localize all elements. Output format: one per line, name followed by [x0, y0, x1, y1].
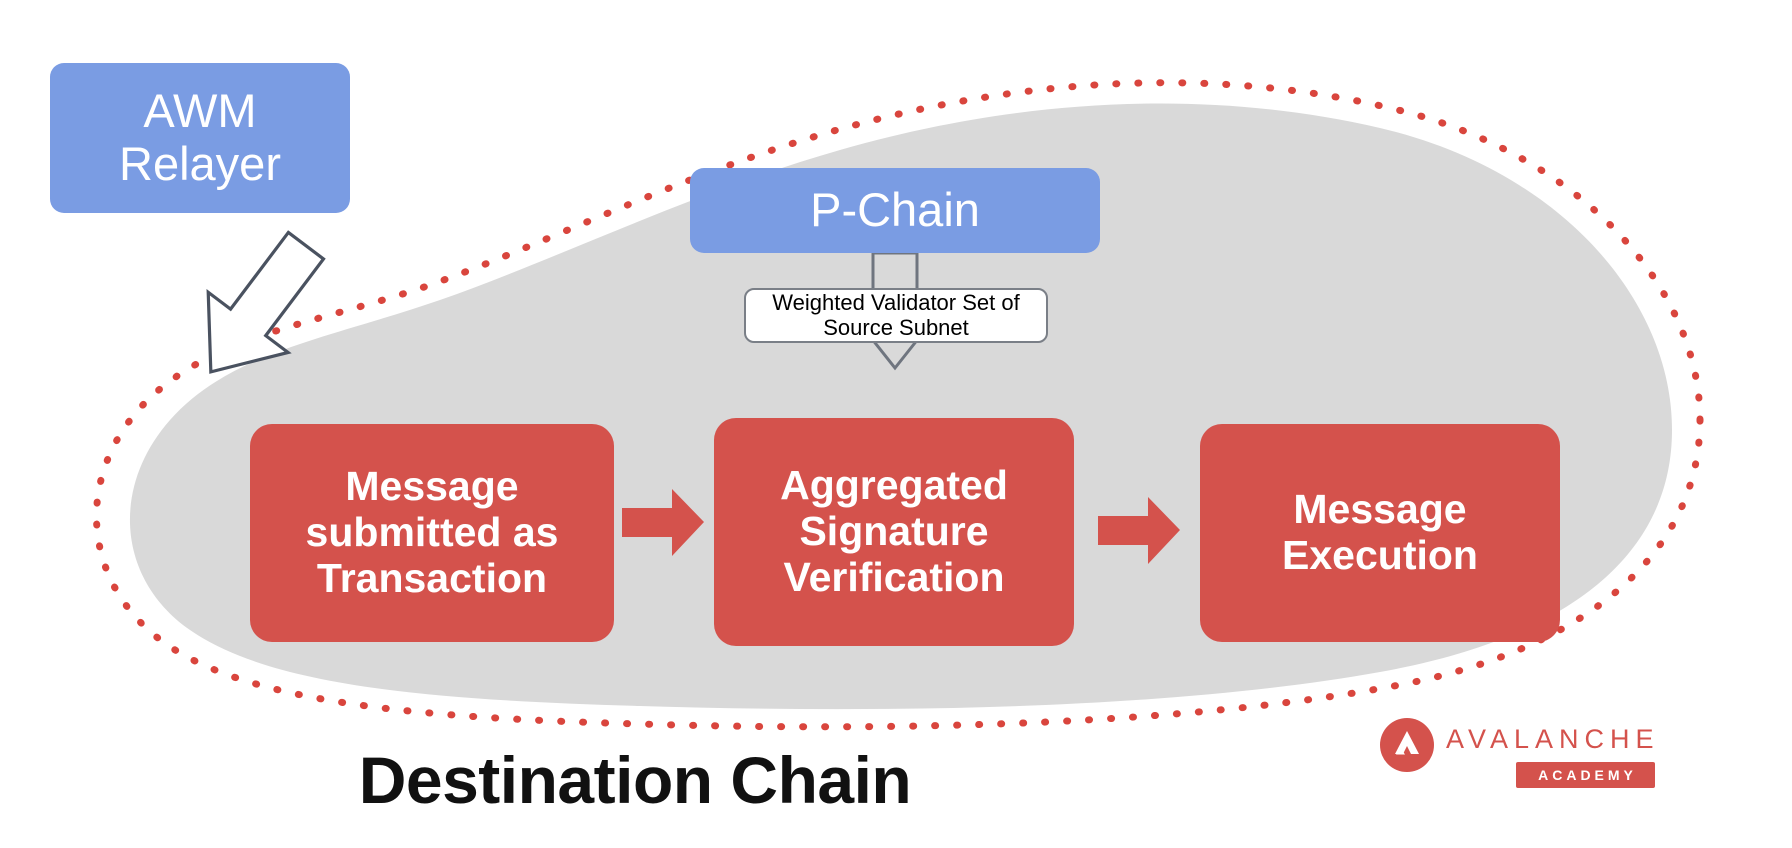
node-message-submitted-as-transaction[interactable]: Message submitted as Transaction	[250, 424, 614, 642]
node-weighted-validator-set[interactable]: Weighted Validator Set of Source Subnet	[744, 288, 1048, 343]
node-p-chain[interactable]: P-Chain	[690, 168, 1100, 253]
node-aggregated-signature-line-2: Signature	[780, 509, 1008, 555]
node-aggregated-signature-verification[interactable]: Aggregated Signature Verification	[714, 418, 1074, 646]
node-aggregated-signature-line-3: Verification	[780, 555, 1008, 601]
node-message-execution-line-1: Message	[1282, 487, 1478, 533]
logo-academy-text: ACADEMY	[1534, 767, 1637, 783]
node-awm-relayer-line-1: AWM	[119, 85, 281, 138]
node-message-execution[interactable]: Message Execution	[1200, 424, 1560, 642]
node-message-execution-line-2: Execution	[1282, 533, 1478, 579]
logo-wordmark: AVALANCHE	[1446, 724, 1660, 755]
logo-academy-bar: ACADEMY	[1516, 762, 1655, 788]
node-message-submitted-line-1: Message	[306, 464, 559, 510]
node-awm-relayer[interactable]: AWM Relayer	[50, 63, 350, 213]
node-weighted-validator-set-line-2: Source Subnet	[772, 316, 1019, 341]
avalanche-triangle-icon	[1380, 718, 1434, 772]
node-weighted-validator-set-line-1: Weighted Validator Set of	[772, 291, 1019, 316]
node-p-chain-label: P-Chain	[810, 184, 980, 237]
avalanche-academy-logo: AVALANCHE ACADEMY	[1380, 716, 1655, 788]
diagram-canvas: AWM Relayer P-Chain Weighted Validator S…	[0, 0, 1792, 848]
diagram-caption: Destination Chain	[0, 742, 1270, 818]
node-message-submitted-line-3: Transaction	[306, 556, 559, 602]
node-aggregated-signature-line-1: Aggregated	[780, 463, 1008, 509]
node-message-submitted-line-2: submitted as	[306, 510, 559, 556]
node-awm-relayer-line-2: Relayer	[119, 138, 281, 191]
